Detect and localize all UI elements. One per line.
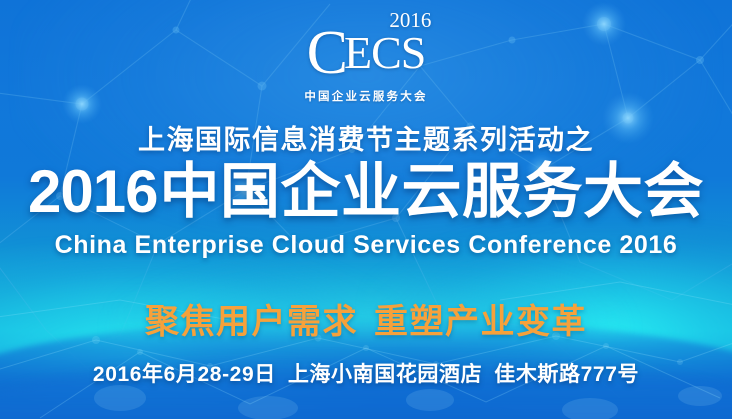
logo-rest: ECS <box>344 27 425 78</box>
slogan-part-2: 重塑产业变革 <box>374 303 587 341</box>
logo-initial: C <box>307 19 347 87</box>
event-date: 2016年6月28-29日 <box>93 363 276 386</box>
logo-wordmark: CECS <box>307 27 426 78</box>
english-title: China Enterprise Cloud Services Conferen… <box>0 231 732 260</box>
event-logo: CECS 2016 中国企业云服务大会 <box>0 24 732 104</box>
event-venue: 上海小南国花园酒店 <box>288 363 482 386</box>
slogan: 聚焦用户需求重塑产业变革 <box>0 294 732 343</box>
logo-year: 2016 <box>389 10 431 31</box>
headline-year: 2016 <box>28 158 157 225</box>
main-headline: 2016中国企业云服务大会 <box>0 160 732 223</box>
banner-content: CECS 2016 中国企业云服务大会 上海国际信息消费节主题系列活动之 201… <box>0 0 732 419</box>
event-details: 2016年6月28-29日上海小南国花园酒店佳木斯路777号 <box>0 358 732 388</box>
event-address: 佳木斯路777号 <box>494 363 639 386</box>
headline-text: 中国企业云服务大会 <box>159 158 704 225</box>
pre-title: 上海国际信息消费节主题系列活动之 <box>0 118 732 157</box>
logo-mark: CECS 2016 <box>307 24 426 83</box>
slogan-part-1: 聚焦用户需求 <box>145 303 358 341</box>
conference-banner: CECS 2016 中国企业云服务大会 上海国际信息消费节主题系列活动之 201… <box>0 0 732 419</box>
logo-subtitle: 中国企业云服务大会 <box>0 88 732 104</box>
